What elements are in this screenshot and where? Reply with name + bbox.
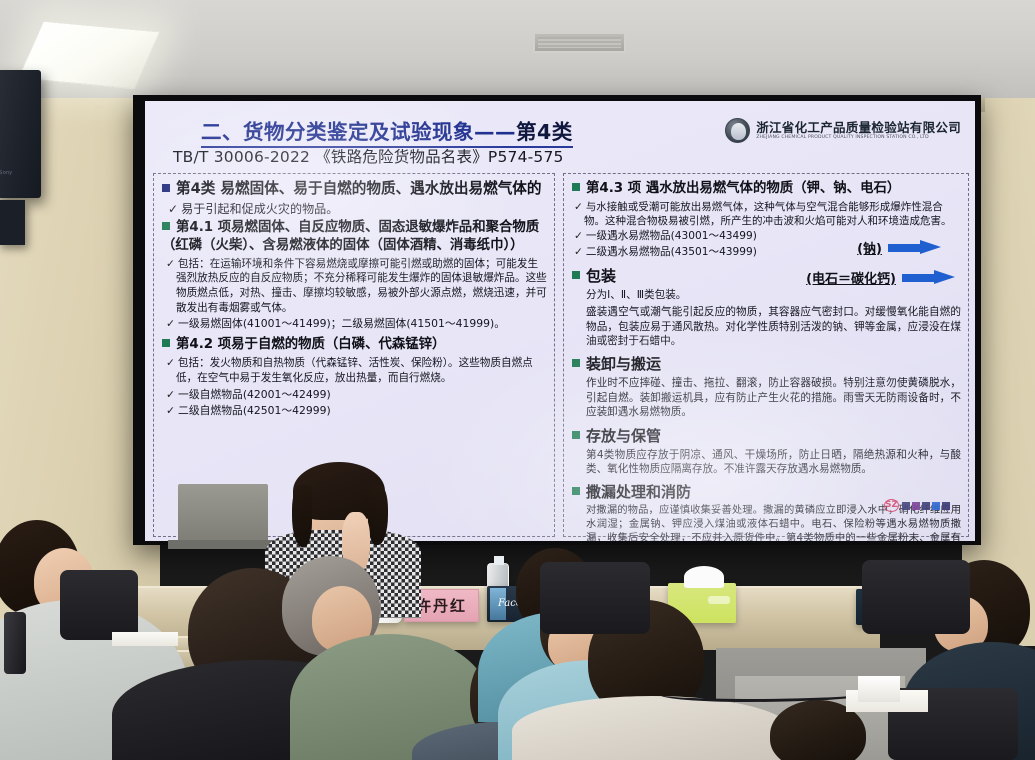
company-logo-icon	[725, 118, 750, 143]
arrow-annotation-1: (钠)	[857, 238, 942, 257]
right-heading-4: 存放与保管	[572, 425, 961, 446]
right-body-4: 分为Ⅰ、Ⅱ、Ⅲ类包装。	[586, 288, 961, 302]
presentation-slide: 二、货物分类鉴定及试验现象——第4类 浙江省化工产品质量检验站有限公司 ZHEJ…	[145, 101, 975, 541]
slide-columns: 第4类 易燃固体、易于自燃的物质、遇水放出易燃气体的 易于引起和促成火灾的物品。…	[153, 173, 969, 537]
left-body-1: 包括：在运输环境和条件下容易燃烧或摩擦可能引燃或助燃的固体；可能发生强烈放热反应…	[176, 257, 547, 315]
bullet-square-green-icon-5	[572, 359, 580, 367]
chair-back-2	[540, 562, 650, 634]
wall-speaker: Sony	[0, 70, 41, 198]
right-heading-1: 第4.3 项 遇水放出易燃气体的物质（钾、钠、电石）	[572, 180, 961, 197]
tissue-puff-3	[858, 676, 900, 702]
left-body-4: 一级自燃物品(42001～42499)	[176, 388, 547, 402]
handout-papers-1	[112, 632, 178, 646]
slide-title-tail: 第4类	[516, 120, 573, 144]
right-dashed-box: 第4.3 项 遇水放出易燃气体的物质（钾、钠、电石） 与水接触或受潮可能放出易燃…	[563, 173, 969, 537]
ceiling	[0, 0, 1035, 98]
right-body-5: 盛装遇空气或潮气能引起反应的物质，其容器应气密封口。对缓慢氧化能自燃的物品，包装…	[586, 305, 961, 348]
right-body-7: 第4类物质应存放于阴凉、通风、干燥场所，防止日晒，隔绝热源和火种，与酸类、氧化性…	[586, 448, 961, 477]
bullet-square-green-icon	[162, 222, 170, 230]
watermark-icons	[902, 502, 950, 510]
slide-title-main: 二、货物分类鉴定及试验现象——	[201, 120, 516, 144]
arrow-right-icon-1	[888, 241, 942, 254]
bullet-square-green-icon-3	[572, 183, 580, 191]
left-body-2: 一级易燃固体(41001～41499)；二级易燃固体(41501～41999)。	[176, 317, 547, 331]
presenter-hair-left	[292, 485, 312, 547]
left-heading-3-text: 第4.2 项易于自燃的物质（白磷、代森锰锌）	[176, 337, 445, 352]
arrow-label-2: (电石＝碳化钙)	[806, 268, 896, 287]
right-heading-3: 装卸与搬运	[572, 353, 961, 374]
name-plate-text: 许丹红	[416, 595, 467, 616]
chair-back-1	[60, 570, 138, 640]
left-heading-2-text: 第4.1 项易燃固体、自反应物质、固态退敏爆炸品和聚合物质（红磷（火柴）、含易燃…	[162, 220, 539, 252]
slide-watermark: SZ	[884, 499, 950, 512]
company-name-en: ZHEJIANG CHEMICAL PRODUCT QUALITY INSPEC…	[756, 135, 961, 140]
chair-back-3	[862, 560, 970, 634]
arrow-annotation-2: (电石＝碳化钙)	[806, 268, 956, 287]
presenter-hair-right	[368, 485, 388, 545]
bullet-square-icon	[162, 184, 170, 192]
slide-subtitle: TB/T 30006-2022 《铁路危险货物品名表》P574-575	[173, 145, 564, 167]
audience-bottle-dark	[4, 612, 26, 674]
right-heading-3-text: 装卸与搬运	[586, 355, 661, 373]
slide-title: 二、货物分类鉴定及试验现象——第4类	[201, 115, 573, 148]
right-heading-1-text: 第4.3 项 遇水放出易燃气体的物质（钾、钠、电石）	[586, 181, 900, 196]
bullet-square-green-icon-6	[572, 431, 580, 439]
left-heading-3: 第4.2 项易于自燃的物质（白磷、代森锰锌）	[162, 336, 547, 353]
wm-icon-2	[912, 502, 920, 510]
wm-icon-4	[932, 502, 940, 510]
bullet-square-green-icon-7	[572, 487, 580, 495]
arrow-label-1: (钠)	[857, 238, 882, 257]
right-body-1: 与水接触或受潮可能放出易燃气体，这种气体与空气混合能够形成爆炸性混合物。这种混合…	[584, 200, 961, 228]
air-vent-icon	[533, 32, 626, 53]
company-name-cn: 浙江省化工产品质量检验站有限公司	[756, 121, 961, 135]
company-logo: 浙江省化工产品质量检验站有限公司 ZHEJIANG CHEMICAL PRODU…	[725, 118, 961, 143]
left-check-1: 易于引起和促成火灾的物品。	[178, 202, 547, 218]
left-body-3: 包括：发火物质和自热物质（代森锰锌、活性炭、保险粉）。这些物质自燃点低，在空气中…	[176, 356, 547, 385]
right-body-6: 作业时不应摔碰、撞击、拖拉、翻滚，防止容器破损。特别注意勿使黄磷脱水，引起自燃。…	[586, 376, 961, 419]
slide-column-right: 第4.3 项 遇水放出易燃气体的物质（钾、钠、电石） 与水接触或受潮可能放出易燃…	[563, 173, 969, 537]
tissue-puff-1	[684, 566, 724, 588]
left-heading-1-text: 第4类 易燃固体、易于自燃的物质、遇水放出易燃气体的	[176, 180, 542, 197]
bullet-square-green-icon-4	[572, 271, 580, 279]
left-body-5: 二级自燃物品(42501～42999)	[176, 404, 547, 418]
wm-icon-5	[942, 502, 950, 510]
bullet-square-green-icon-2	[162, 339, 170, 347]
slide-header: 二、货物分类鉴定及试验现象——第4类 浙江省化工产品质量检验站有限公司 ZHEJ…	[155, 107, 967, 147]
right-heading-5-text: 撒漏处理和消防	[586, 483, 691, 501]
speaker-brand-label: Sony	[0, 170, 12, 176]
arrow-right-icon-2	[902, 271, 956, 284]
left-heading-2: 第4.1 项易燃固体、自反应物质、固态退敏爆炸品和聚合物质（红磷（火柴）、含易燃…	[162, 219, 547, 253]
stamp-icon: SZ	[884, 499, 899, 512]
presenter-laptop	[178, 484, 268, 542]
left-heading-1: 第4类 易燃固体、易于自燃的物质、遇水放出易燃气体的	[162, 180, 547, 199]
wm-icon-1	[902, 502, 910, 510]
wm-icon-3	[922, 502, 930, 510]
lecture-hall-photo: Sony 二、货物分类鉴定及试验现象——第4类 浙江省化工产品质量检验站有限公司…	[0, 0, 1035, 760]
right-heading-4-text: 存放与保管	[586, 427, 661, 445]
right-heading-2-text: 包装	[586, 267, 616, 285]
projector-screen: 二、货物分类鉴定及试验现象——第4类 浙江省化工产品质量检验站有限公司 ZHEJ…	[145, 101, 975, 541]
